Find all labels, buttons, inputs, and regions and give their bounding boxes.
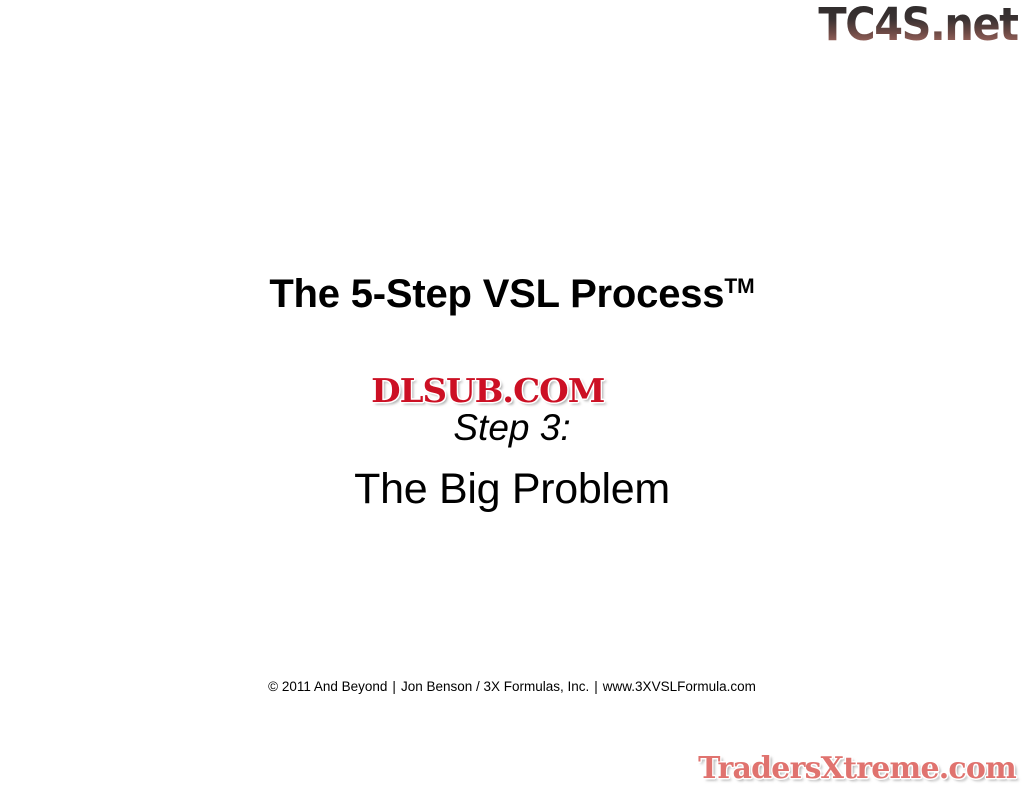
watermark-tradersxtreme-com: TradersXtreme.com [698, 752, 1016, 785]
slide-footer: © 2011 And Beyond|Jon Benson / 3X Formul… [0, 679, 1024, 694]
slide-title: The 5-Step VSL ProcessTM [0, 272, 1024, 317]
slide-title-text: The 5-Step VSL Process [269, 272, 724, 316]
watermark-dlsub-com: DLSUB.COM [366, 371, 609, 414]
presentation-slide: TC4S.net The 5-Step VSL ProcessTM Step 3… [0, 0, 1024, 791]
footer-website: www.3XVSLFormula.com [603, 679, 756, 694]
footer-copyright: © 2011 And Beyond [268, 679, 387, 694]
trademark-symbol: TM [724, 275, 754, 298]
watermark-tc4s-net: TC4S.net [819, 2, 1018, 47]
footer-author: Jon Benson / 3X Formulas, Inc. [401, 679, 589, 694]
footer-separator-1: | [387, 679, 401, 694]
footer-separator-2: | [589, 679, 603, 694]
slide-subtitle-topic: The Big Problem [0, 465, 1024, 514]
